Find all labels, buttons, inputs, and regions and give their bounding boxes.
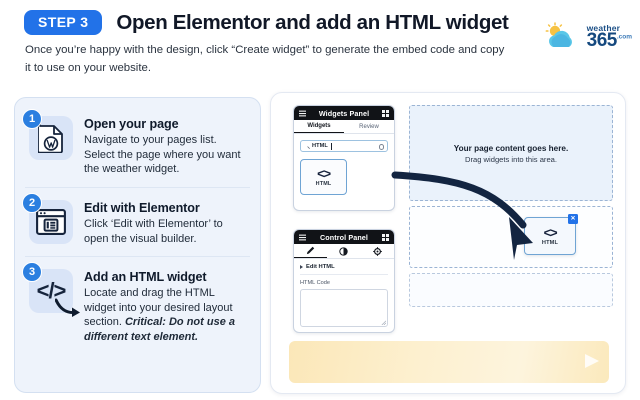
drop-zone-tertiary[interactable]	[409, 273, 613, 307]
steps-card: 1 Open your page Navigate to your pages …	[14, 97, 261, 393]
step-body: Click ‘Edit with Elementor’ to open the …	[84, 217, 246, 246]
brand-logo: weather 365.com	[542, 22, 632, 52]
code-brackets-icon: <>	[317, 167, 330, 180]
logo-wordmark: weather 365.com	[587, 24, 632, 51]
page-title: Open Elementor and add an HTML widget	[116, 11, 508, 35]
page-canvas: Your page content goes here. Drag widget…	[409, 105, 613, 333]
text-caret	[331, 143, 332, 150]
logo-number: 365.com	[587, 31, 632, 50]
drop-zone-title: Your page content goes here.	[410, 144, 612, 153]
logo-tld: .com	[617, 34, 632, 41]
step-body: Locate and drag the HTML widget into you…	[84, 286, 246, 345]
widgets-panel: Widgets Panel Widgets Review	[293, 105, 395, 211]
step-item-1: 1 Open your page Navigate to your pages …	[25, 110, 250, 187]
wordpress-document-icon	[38, 124, 65, 153]
html-code-label: HTML Code	[300, 280, 388, 286]
drop-zone-secondary[interactable]: ✕ <> HTML	[409, 206, 613, 268]
control-panel-tabs	[294, 244, 394, 259]
step-title: Edit with Elementor	[84, 201, 246, 215]
step-item-2: 2 Edit with Elementor	[25, 187, 250, 256]
grid-icon[interactable]	[382, 110, 389, 117]
control-panel-body: Edit HTML HTML Code	[294, 259, 394, 332]
step-3-text: Add an HTML widget Locate and drag the H…	[84, 269, 246, 345]
drop-zone-subtitle: Drag widgets into this area.	[410, 155, 612, 164]
drop-zone-main[interactable]: Your page content goes here. Drag widget…	[409, 105, 613, 201]
widget-search-value: HTML	[312, 143, 328, 149]
control-panel-title: Control Panel	[320, 233, 368, 242]
grid-icon[interactable]	[382, 234, 389, 241]
tab-advanced-gear[interactable]	[361, 244, 394, 258]
step-number-badge: 2	[22, 193, 42, 213]
widgets-panel-body: HTML <> HTML	[294, 134, 394, 201]
header-title-row: STEP 3 Open Elementor and add an HTML wi…	[24, 10, 509, 35]
widget-tile-label: HTML	[316, 181, 332, 187]
header-subtitle: Once you’re happy with the design, click…	[25, 42, 505, 77]
step-item-3: 3 </> Add an HTML widget Locate and drag…	[25, 256, 250, 355]
contrast-icon	[339, 247, 348, 256]
slide-root: STEP 3 Open Elementor and add an HTML wi…	[0, 0, 640, 400]
tab-content-pencil[interactable]	[294, 244, 327, 258]
control-panel: Control Panel	[293, 229, 395, 333]
step-3-icon-wrap: 3 </>	[29, 269, 73, 313]
header: STEP 3 Open Elementor and add an HTML wi…	[0, 0, 640, 88]
code-brackets-icon: <>	[544, 226, 557, 239]
tab-style-contrast[interactable]	[327, 244, 360, 258]
hamburger-icon[interactable]	[299, 110, 306, 117]
step-body: Navigate to your pages list. Select the …	[84, 133, 246, 177]
step-2-text: Edit with Elementor Click ‘Edit with Ele…	[84, 200, 246, 246]
widget-tile-html[interactable]: <> HTML	[300, 159, 347, 195]
step-badge: STEP 3	[24, 10, 102, 35]
step-number-badge: 3	[22, 262, 42, 282]
dropped-widget-label: HTML	[542, 240, 558, 246]
control-panel-titlebar: Control Panel	[294, 230, 394, 244]
drop-zone-text: Your page content goes here. Drag widget…	[410, 144, 612, 164]
html-code-textarea[interactable]	[300, 289, 388, 327]
banner-arrow-icon	[585, 354, 599, 368]
widgets-panel-titlebar: Widgets Panel	[294, 106, 394, 120]
chevron-right-icon	[300, 265, 303, 269]
sun-cloud-icon	[542, 22, 584, 52]
accordion-label: Edit HTML	[306, 264, 335, 270]
step-1-icon-wrap: 1	[29, 116, 73, 160]
step-number-badge: 1	[22, 109, 42, 129]
step-1-text: Open your page Navigate to your pages li…	[84, 116, 246, 177]
tab-widgets[interactable]: Widgets	[294, 120, 344, 133]
gear-icon	[373, 247, 382, 256]
step-title: Add an HTML widget	[84, 270, 246, 284]
close-icon[interactable]: ✕	[568, 214, 578, 224]
resize-grip-icon[interactable]	[381, 320, 386, 325]
pencil-icon	[306, 246, 315, 255]
promo-banner	[289, 341, 609, 383]
widgets-panel-title: Widgets Panel	[319, 109, 369, 118]
tab-review[interactable]: Review	[344, 120, 394, 133]
widgets-panel-tabs: Widgets Review	[294, 120, 394, 134]
editor-mockup-card: Widgets Panel Widgets Review	[270, 92, 626, 394]
step-title: Open your page	[84, 117, 246, 131]
browser-window-elementor-icon	[36, 209, 66, 235]
widget-search-input[interactable]: HTML	[300, 140, 388, 152]
hamburger-icon[interactable]	[299, 234, 306, 241]
drag-arrow-icon	[55, 297, 81, 317]
step-2-icon-wrap: 2	[29, 200, 73, 244]
clear-circle-icon[interactable]	[379, 144, 385, 150]
dropped-html-widget[interactable]: ✕ <> HTML	[524, 217, 576, 255]
accordion-edit-html[interactable]: Edit HTML	[300, 264, 388, 275]
search-icon	[304, 143, 310, 149]
